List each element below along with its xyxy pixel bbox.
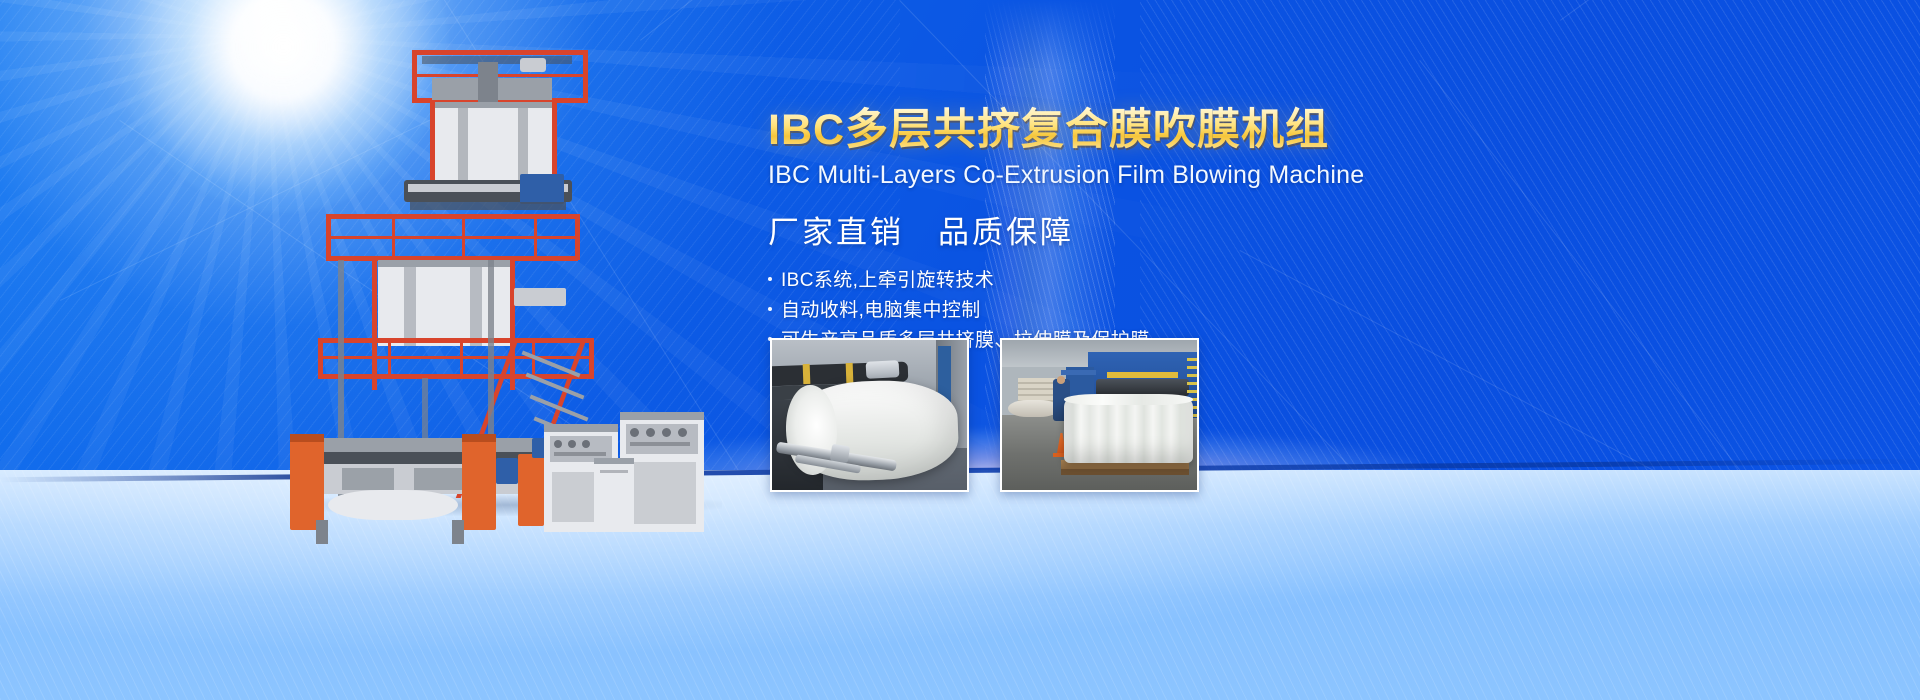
- product-photo-gallery: [770, 338, 1199, 492]
- tagline: 厂家直销 品质保障: [768, 213, 1468, 253]
- product-photo-stretch-film-pallet: [1000, 338, 1199, 492]
- banner-copy-block: IBC多层共挤复合膜吹膜机组 IBC Multi-Layers Co-Extru…: [768, 104, 1468, 356]
- bullet-dot-icon: [768, 277, 772, 281]
- page-title: IBC多层共挤复合膜吹膜机组: [768, 104, 1468, 156]
- product-photo-film-roll: [770, 338, 969, 492]
- list-item: IBC系统,上牵引旋转技术: [768, 266, 1468, 296]
- feature-text: 自动收料,电脑集中控制: [781, 296, 981, 326]
- list-item: 自动收料,电脑集中控制: [768, 296, 1468, 326]
- page-subtitle: IBC Multi-Layers Co-Extrusion Film Blowi…: [768, 159, 1468, 191]
- blown-film-machine-image: [282, 38, 732, 518]
- feature-text: IBC系统,上牵引旋转技术: [781, 266, 994, 296]
- bullet-dot-icon: [768, 307, 772, 311]
- product-hero-banner: IBC多层共挤复合膜吹膜机组 IBC Multi-Layers Co-Extru…: [0, 0, 1920, 700]
